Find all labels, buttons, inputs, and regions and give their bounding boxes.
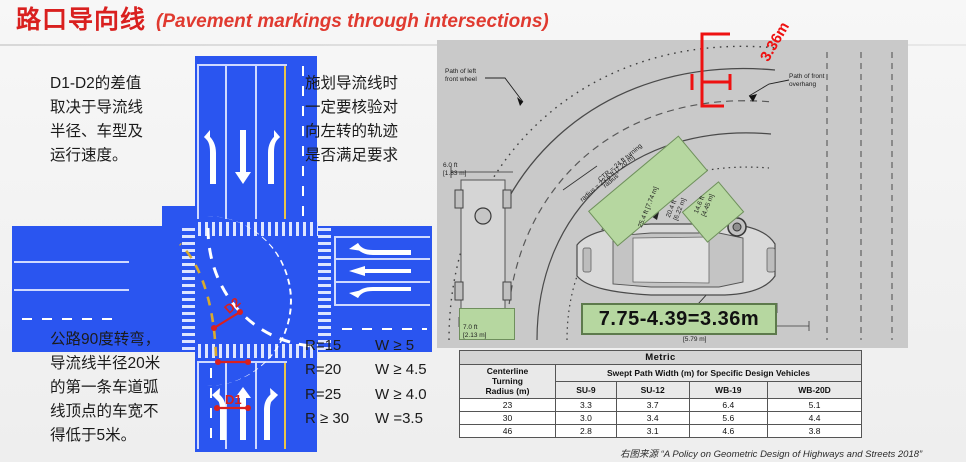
rw-width: W =3.5 [375,407,435,431]
rw-width: W ≥ 4.5 [375,358,435,382]
cell-wb20d: 4.4 [768,411,862,424]
cell-su9: 2.8 [556,424,617,437]
table-row: 30 3.0 3.4 5.6 4.4 [460,411,862,424]
cell-wb20d: 5.1 [768,398,862,411]
cell-wb19: 5.6 [689,411,768,424]
red-annotation-bracket [690,30,800,140]
cell-radius: 23 [460,398,556,411]
note-top-mid: 施划导流线时 一定要核验对 向左转的轨迹 是否满足要求 [305,72,450,168]
dim-6ft: 6.0 ft [1.83 m] [443,162,466,178]
cell-su12: 3.1 [616,424,689,437]
radius-width-list: R=15 W ≥ 5 R=20 W ≥ 4.5 R=25 W ≥ 4.0 R ≥… [305,334,435,431]
rw-row: R=15 W ≥ 5 [305,334,435,358]
col-wb-20d: WB-20D [768,381,862,398]
slide-title: 路口导向线 (Pavement markings through interse… [16,8,549,33]
rw-row: R ≥ 30 W =3.5 [305,407,435,431]
rw-width: W ≥ 5 [375,334,435,358]
rw-radius: R=20 [305,358,361,382]
note-bottom-left: 公路90度转弯， 导流线半径20米 的第一条车道弧 线顶点的车宽不 得低于5米。 [50,328,205,448]
table-row: 23 3.3 3.7 6.4 5.1 [460,398,862,411]
title-english: (Pavement markings through intersections… [156,12,549,33]
cell-radius: 30 [460,411,556,424]
rw-radius: R=25 [305,383,361,407]
turning-path-diagram: Path of left front wheel Path of front o… [437,40,908,348]
rw-row: R=20 W ≥ 4.5 [305,358,435,382]
col-su-9: SU-9 [556,381,617,398]
cell-wb19: 6.4 [689,398,768,411]
metric-table: Metric Centerline Turning Radius (m) Swe… [459,350,862,438]
cell-wb19: 4.6 [689,424,768,437]
label-path-left-front-wheel: Path of left front wheel [445,68,477,84]
cell-radius: 46 [460,424,556,437]
cell-su12: 3.4 [616,411,689,424]
rw-row: R=25 W ≥ 4.0 [305,383,435,407]
cell-su9: 3.3 [556,398,617,411]
table-row-header: Centerline Turning Radius (m) Swept Path… [460,365,862,382]
col-wb-19: WB-19 [689,381,768,398]
dim-7ft: 7.0 ft [2.13 m] [463,324,486,340]
rw-radius: R ≥ 30 [305,407,361,431]
table-row-title: Metric [460,351,862,365]
rw-radius: R=15 [305,334,361,358]
slide-root: 路口导向线 (Pavement markings through interse… [0,0,966,462]
table-row: 46 2.8 3.1 4.6 3.8 [460,424,862,437]
cell-su9: 3.0 [556,411,617,424]
cell-wb20d: 3.8 [768,424,862,437]
col-su-12: SU-12 [616,381,689,398]
col-swept-path-group: Swept Path Width (m) for Specific Design… [556,365,862,382]
formula-highlight: 7.75-4.39=3.36m [581,303,777,335]
rw-width: W ≥ 4.0 [375,383,435,407]
col-centerline-radius: Centerline Turning Radius (m) [460,365,556,399]
title-chinese: 路口导向线 [16,8,146,33]
cell-su12: 3.7 [616,398,689,411]
metric-title: Metric [460,351,862,365]
note-top-left: D1-D2的差值 取决于导流线 半径、车型及 运行速度。 [50,72,200,168]
source-citation: 右图来源 “A Policy on Geometric Design of Hi… [620,446,922,460]
